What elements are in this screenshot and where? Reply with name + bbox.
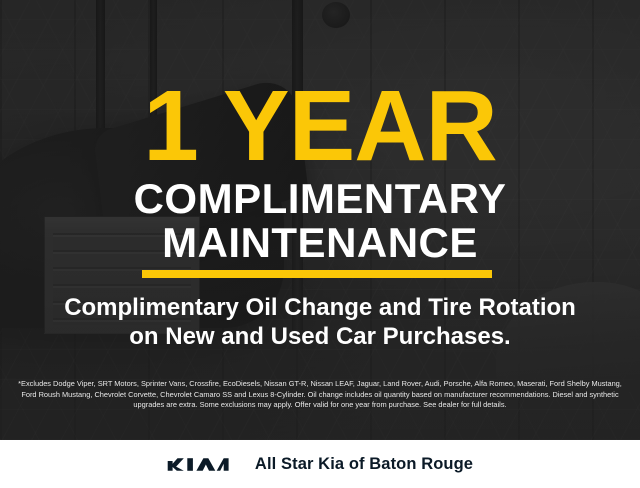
headline-year: 1 YEAR	[0, 76, 640, 176]
dealer-name: All Star Kia of Baton Rouge	[255, 455, 473, 474]
offer-description-line-1: Complimentary Oil Change and Tire Rotati…	[0, 293, 640, 323]
banner-content: 1 YEAR COMPLIMENTARY MAINTENANCE Complim…	[0, 0, 640, 488]
maintenance-offer-banner: 1 YEAR COMPLIMENTARY MAINTENANCE Complim…	[0, 0, 640, 488]
headline-maintenance: MAINTENANCE	[0, 222, 640, 264]
dealer-footer-bar: All Star Kia of Baton Rouge	[0, 440, 640, 488]
headline-complimentary: COMPLIMENTARY	[0, 178, 640, 220]
yellow-divider-rule	[142, 270, 492, 278]
kia-logo-icon	[167, 456, 237, 473]
disclaimer-text: *Excludes Dodge Viper, SRT Motors, Sprin…	[14, 379, 626, 411]
offer-description-line-2: on New and Used Car Purchases.	[0, 322, 640, 352]
